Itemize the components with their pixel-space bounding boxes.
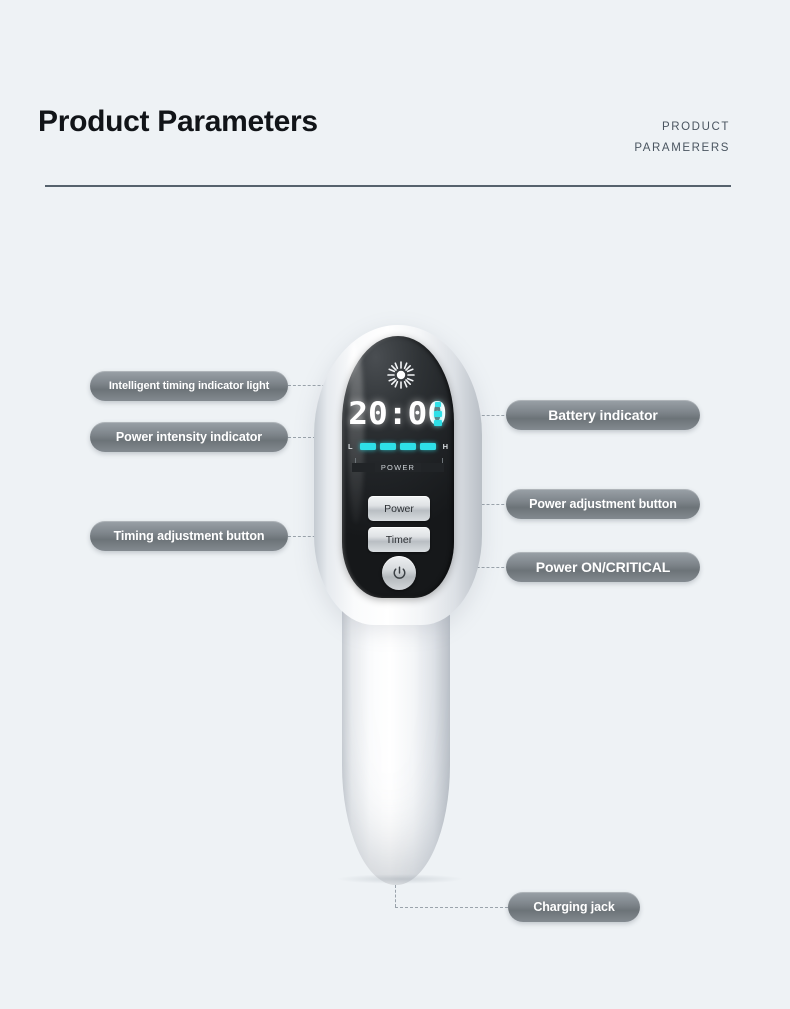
power-bar: [380, 443, 396, 450]
callout-charging-jack[interactable]: Charging jack: [508, 892, 640, 922]
callout-battery-indicator[interactable]: Battery indicator: [506, 400, 700, 430]
control-panel: 20:00 L H POWER Power: [342, 336, 454, 598]
callout-timing-indicator-light[interactable]: Intelligent timing indicator light: [90, 371, 288, 401]
power-onoff-button[interactable]: [382, 556, 416, 590]
callout-label: Intelligent timing indicator light: [109, 380, 269, 392]
power-symbol-icon: [391, 565, 408, 582]
battery-indicator-icon: [434, 402, 442, 426]
leader-line-charging-jack-vertical: [395, 885, 396, 907]
callout-label: Power ON/CRITICAL: [536, 559, 670, 575]
callout-power-on-critical[interactable]: Power ON/CRITICAL: [506, 552, 700, 582]
callout-timing-adjustment-button[interactable]: Timing adjustment button: [90, 521, 288, 551]
subtitle-line-2: PARAMERERS: [634, 138, 730, 159]
subtitle-line-1: PRODUCT: [634, 117, 730, 138]
power-bar-group: [360, 443, 436, 450]
timer-adjustment-button[interactable]: Timer: [368, 527, 430, 552]
device-ground-shadow: [310, 872, 490, 886]
battery-segment: [434, 411, 442, 417]
control-panel-sheen: [348, 344, 364, 524]
timer-button-label: Timer: [386, 534, 412, 546]
power-high-label: H: [443, 442, 448, 451]
laser-burst-icon: [387, 361, 415, 389]
power-bar: [400, 443, 416, 450]
battery-segment: [434, 420, 442, 426]
battery-segment: [435, 402, 441, 407]
callout-label: Power intensity indicator: [116, 430, 262, 444]
callout-label: Battery indicator: [548, 407, 658, 423]
power-low-label: L: [348, 442, 353, 451]
page-title: Product Parameters: [38, 105, 318, 139]
power-intensity-bars: L H: [348, 440, 448, 452]
callout-label: Timing adjustment button: [114, 529, 265, 543]
device-illustration: 20:00 L H POWER Power: [300, 325, 500, 885]
callout-label: Charging jack: [533, 900, 614, 914]
power-bar: [360, 443, 376, 450]
callout-power-adjustment-button[interactable]: Power adjustment button: [506, 489, 700, 519]
power-bar: [420, 443, 436, 450]
power-caption-wrap: POWER: [352, 463, 444, 472]
power-button-label: Power: [384, 503, 414, 515]
power-adjustment-button[interactable]: Power: [368, 496, 430, 521]
timer-value: 20:00: [349, 396, 448, 432]
header-subtitle: PRODUCT PARAMERERS: [634, 117, 730, 159]
leader-line-charging-jack-horizontal: [395, 907, 513, 908]
header-divider: [45, 185, 731, 187]
callout-power-intensity-indicator[interactable]: Power intensity indicator: [90, 422, 288, 452]
power-caption-group: POWER: [352, 458, 444, 478]
page-header: Product Parameters PRODUCT PARAMERERS: [0, 0, 790, 200]
power-caption: POWER: [375, 463, 421, 472]
callout-label: Power adjustment button: [529, 497, 677, 511]
